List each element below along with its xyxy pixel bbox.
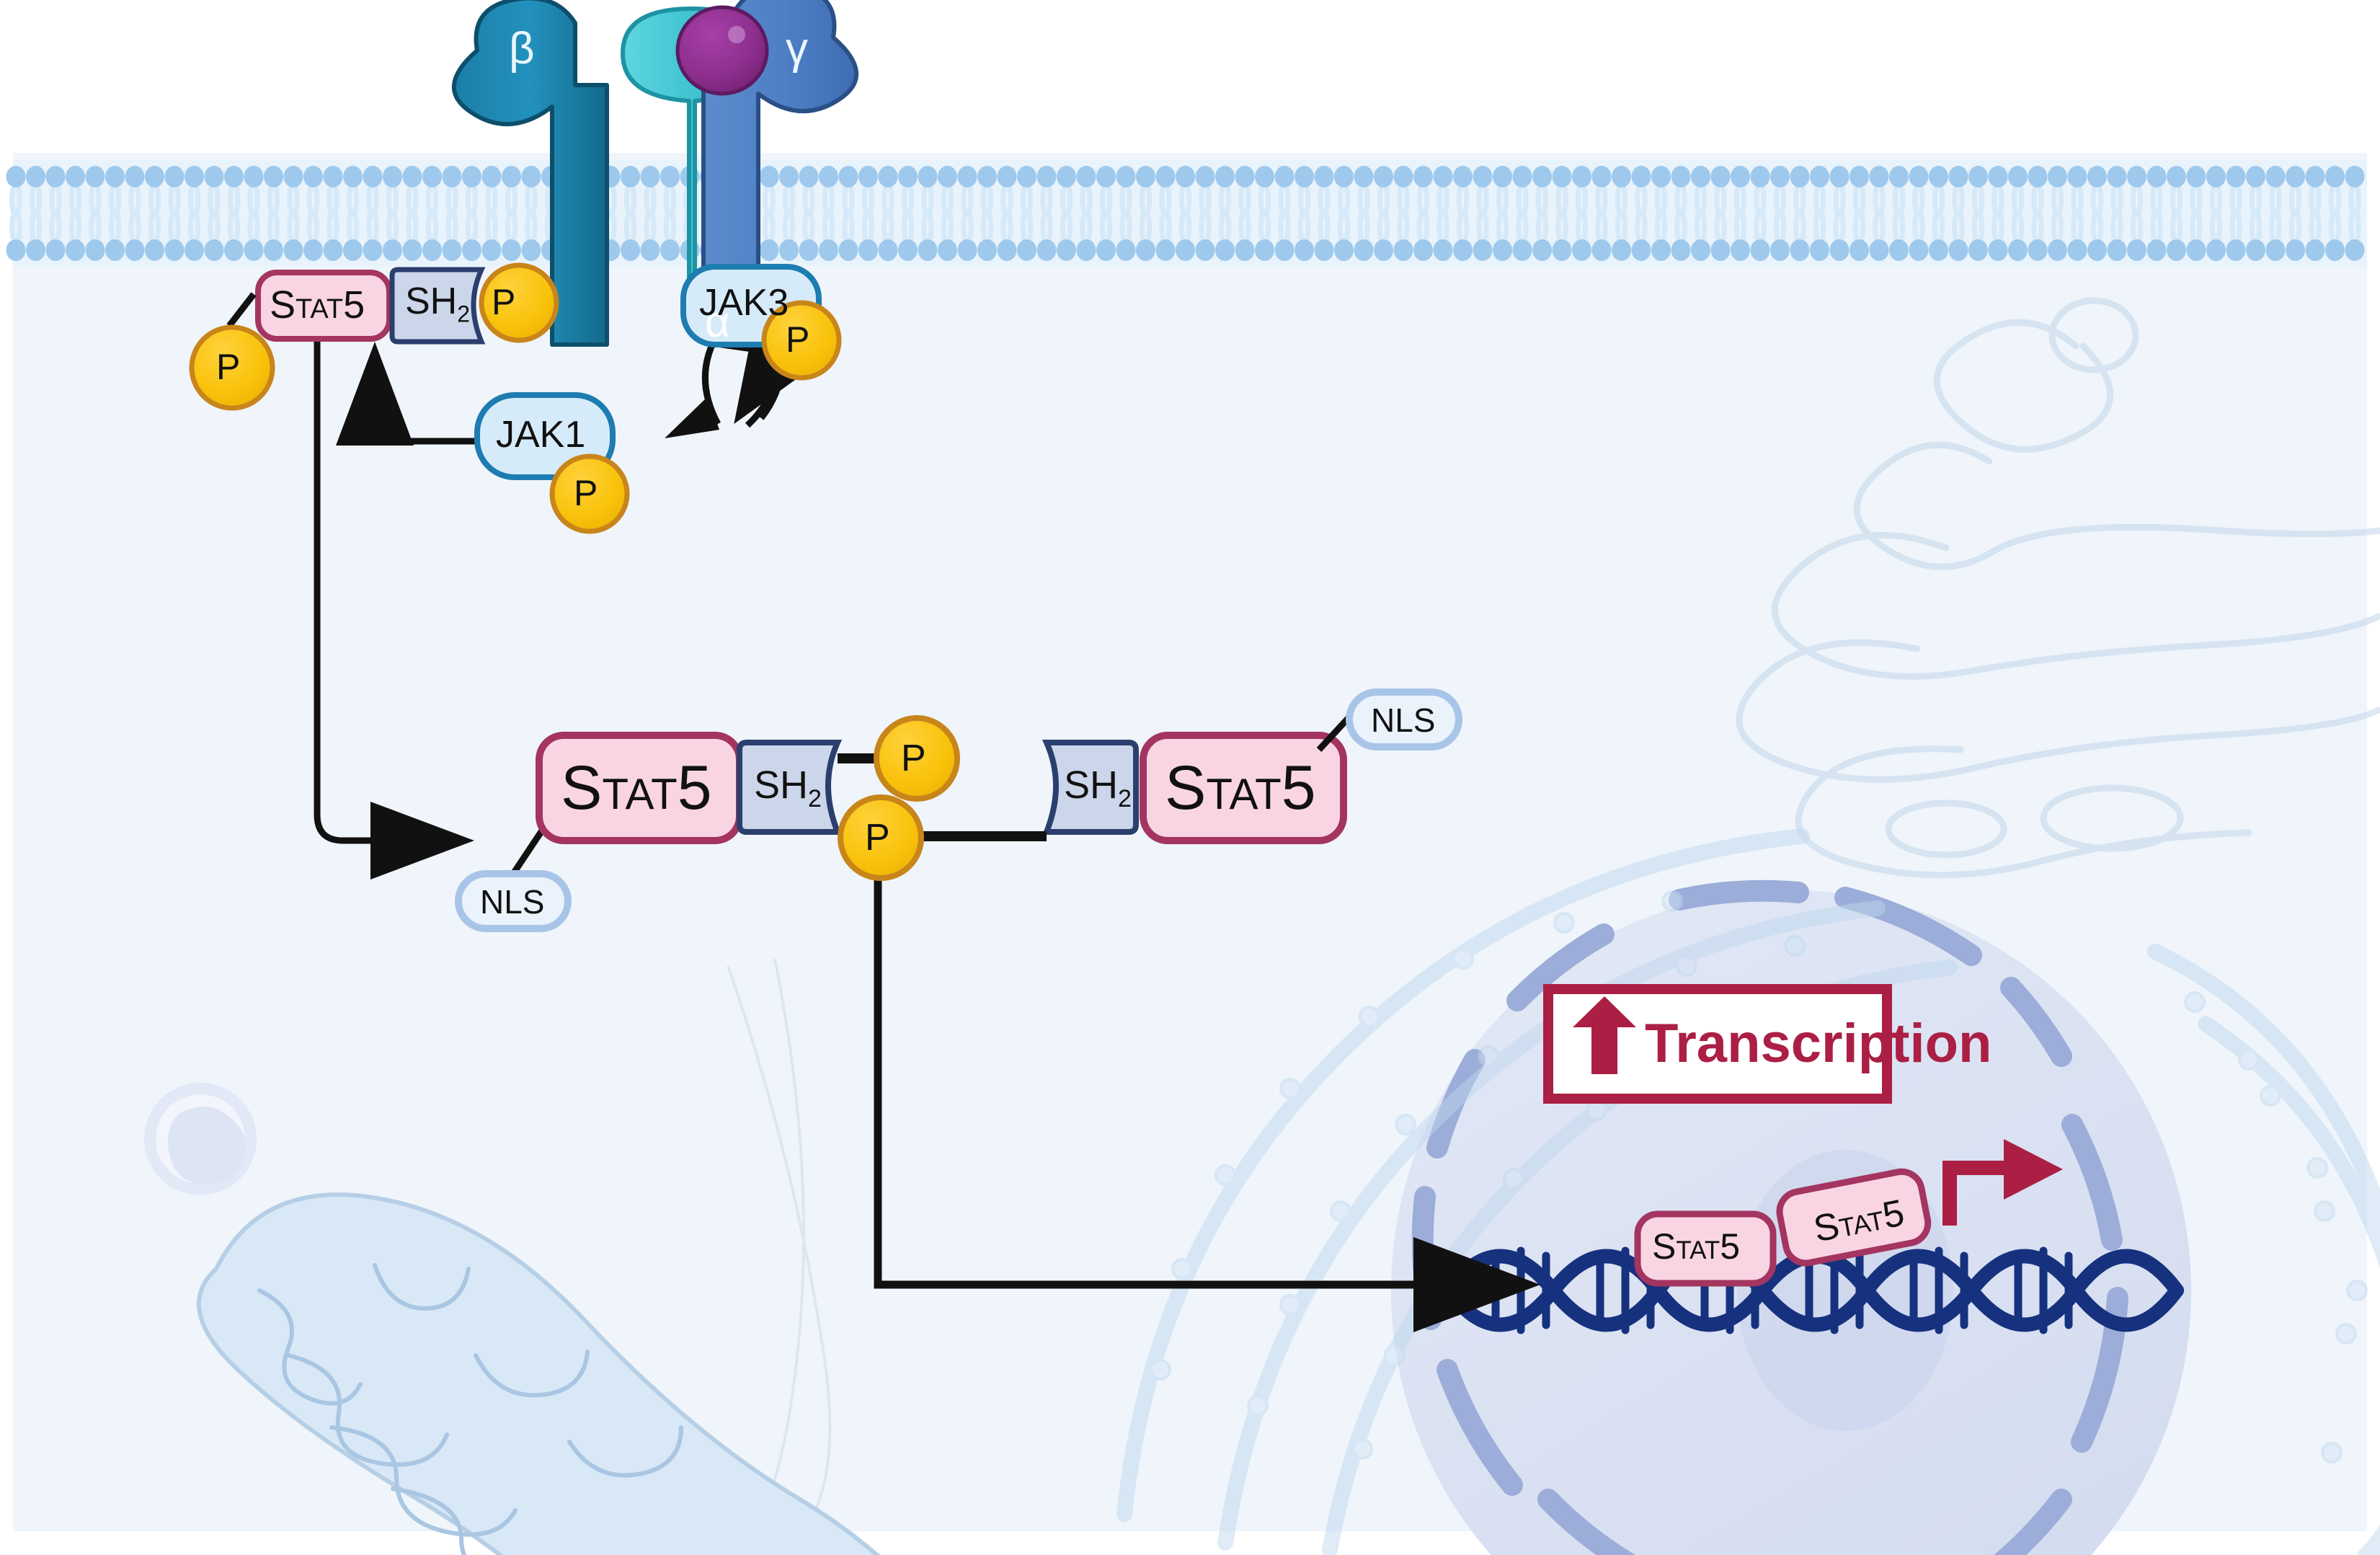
- lysosome: [144, 1083, 257, 1195]
- phosphate-label-sh2u: P: [492, 281, 515, 323]
- nls-left-label: NLS: [480, 882, 544, 921]
- transcription-label: Transcription: [1645, 1012, 1992, 1075]
- phosphate-dimer-bottom-label: P: [865, 816, 890, 859]
- phosphate-label-jak1: P: [574, 472, 598, 514]
- jak3-label: JAK3: [699, 281, 789, 324]
- receptor-beta-label: β: [509, 23, 535, 74]
- phosphate-label-jak3: P: [786, 319, 809, 360]
- stat5-dimer-left-label: Stat5: [561, 753, 712, 824]
- sh2-receptor-label: SH2: [405, 280, 470, 327]
- receptor-gamma-label: γ: [786, 23, 808, 74]
- jak1-label: JAK1: [496, 413, 585, 456]
- phosphate-dimer-top-label: P: [901, 737, 926, 780]
- stat5-bound-left-label: Stat5: [1652, 1226, 1740, 1267]
- pathway-figure: β α γ Stat5 SH2 P P JAK1 P JAK3 P Stat5 …: [0, 0, 2380, 1555]
- ligand-sphere: [678, 7, 767, 94]
- sh2-dimer-right-label: SH2: [1064, 763, 1132, 813]
- nls-right-label: NLS: [1371, 701, 1435, 740]
- sh2-dimer-left-label: SH2: [754, 763, 822, 813]
- phosphate-label-left: P: [216, 346, 240, 388]
- stat5-receptor-label: Stat5: [270, 283, 365, 327]
- stat5-dimer-right-label: Stat5: [1165, 753, 1316, 824]
- plasma-membrane: [6, 160, 2368, 267]
